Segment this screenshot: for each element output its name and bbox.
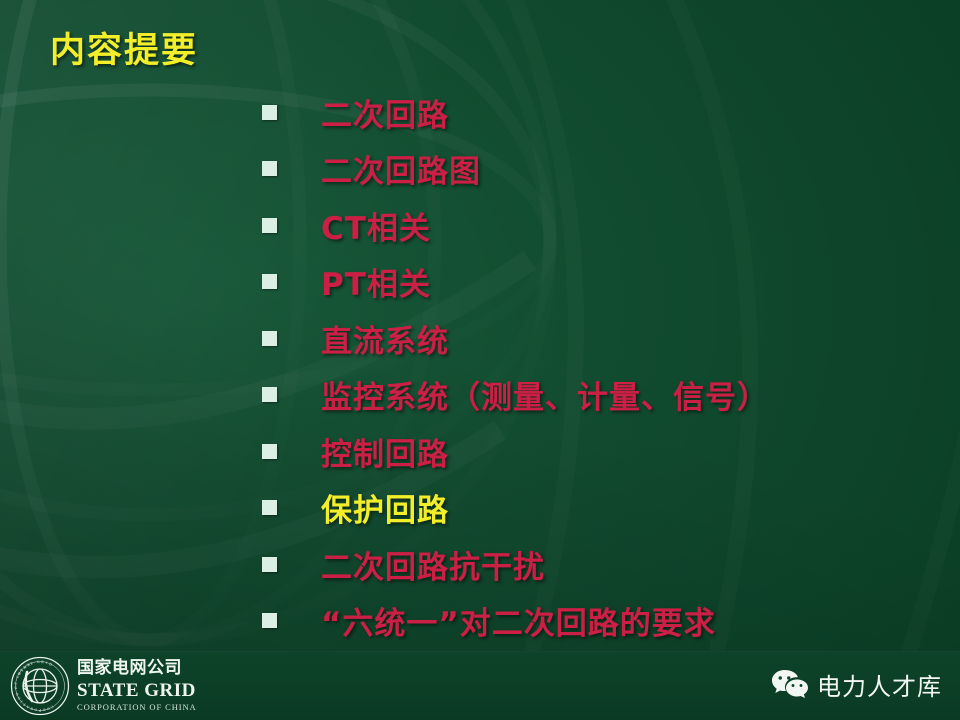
list-item-label: 监控系统（测量、计量、信号）: [321, 372, 769, 417]
square-bullet-icon: [262, 105, 277, 120]
square-bullet-icon: [262, 557, 277, 572]
svg-text:O: O: [17, 696, 22, 701]
list-item[interactable]: 二次回路: [262, 84, 952, 141]
square-bullet-icon: [262, 161, 277, 176]
list-item[interactable]: “六统一”对二次回路的要求: [262, 593, 952, 650]
state-grid-name-cn: 国家电网公司: [77, 660, 197, 677]
outline-list: 二次回路 二次回路图 CT相关 PT相关 直流系统 监控系统（测量、计量、信号）…: [262, 84, 952, 649]
square-bullet-icon: [262, 500, 277, 515]
svg-text:R: R: [41, 660, 44, 664]
watermark-label: 电力人才库: [817, 667, 942, 702]
svg-text:E: E: [30, 661, 34, 666]
list-item-label: 控制回路: [321, 429, 449, 474]
wechat-watermark: 电力人才库: [771, 667, 942, 702]
svg-text:O: O: [14, 686, 18, 689]
list-item[interactable]: 直流系统: [262, 310, 952, 367]
list-item-label: 直流系统: [321, 316, 449, 361]
square-bullet-icon: [262, 387, 277, 402]
svg-text:G: G: [37, 660, 40, 664]
svg-text:F: F: [14, 682, 18, 684]
list-item-label: 二次回路抗干扰: [321, 542, 545, 587]
list-item[interactable]: 二次回路图: [262, 141, 952, 198]
state-grid-logo: S T A T E G R I D C O R P O R: [10, 656, 197, 716]
svg-text:A: A: [26, 704, 31, 709]
list-item[interactable]: 二次回路抗干扰: [262, 536, 952, 593]
svg-text:O: O: [46, 706, 50, 711]
list-item-label: 二次回路: [321, 90, 449, 135]
list-item-label: PT相关: [321, 259, 431, 304]
state-grid-subtitle-en: CORPORATION OF CHINA: [77, 703, 197, 712]
list-item[interactable]: 控制回路: [262, 423, 952, 480]
state-grid-globe-icon: S T A T E G R I D C O R P O R: [10, 656, 70, 716]
svg-text:N: N: [15, 692, 20, 696]
state-grid-name-en: STATE GRID: [77, 681, 197, 700]
list-item-label: “六统一”对二次回路的要求: [321, 598, 716, 643]
square-bullet-icon: [262, 274, 277, 289]
list-item[interactable]: 保护回路: [262, 480, 952, 537]
square-bullet-icon: [262, 613, 277, 628]
list-item-label: CT相关: [321, 203, 431, 248]
svg-text:R: R: [42, 707, 46, 711]
list-item[interactable]: 监控系统（测量、计量、信号）: [262, 367, 952, 424]
state-grid-wordmark: 国家电网公司 STATE GRID CORPORATION OF CHINA: [77, 660, 197, 712]
page-title: 内容提要: [50, 22, 198, 73]
presentation-slide: 内容提要 二次回路 二次回路图 CT相关 PT相关 直流系统 监控系统（测量、计…: [0, 0, 960, 720]
list-item[interactable]: PT相关: [262, 254, 952, 311]
slide-footer: S T A T E G R I D C O R P O R: [0, 651, 960, 720]
square-bullet-icon: [262, 218, 277, 233]
svg-text:P: P: [39, 708, 41, 712]
wechat-icon: [771, 669, 809, 701]
list-item-label: 保护回路: [321, 485, 449, 530]
square-bullet-icon: [262, 331, 277, 346]
list-item-label: 二次回路图: [321, 146, 481, 191]
square-bullet-icon: [262, 444, 277, 459]
list-item[interactable]: CT相关: [262, 197, 952, 254]
